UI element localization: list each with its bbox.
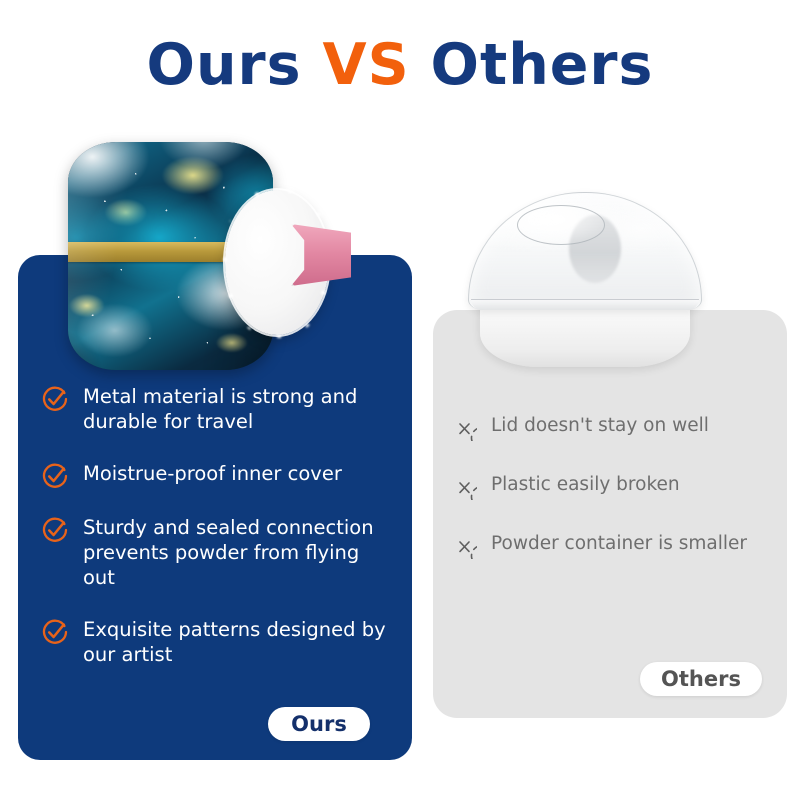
x-circle-icon <box>452 416 477 441</box>
others-product-image <box>462 192 707 367</box>
list-item: Sturdy and sealed connection prevents po… <box>42 515 392 591</box>
list-item: Exquisite patterns designed by our artis… <box>42 617 392 668</box>
list-item-label: Metal material is strong and durable for… <box>83 384 392 435</box>
list-item: Powder container is smaller <box>452 532 782 559</box>
ours-product-image <box>60 130 400 385</box>
check-circle-icon <box>42 386 68 412</box>
others-badge: Others <box>640 662 762 696</box>
list-item-label: Plastic easily broken <box>491 473 680 497</box>
powder-puff <box>225 190 350 335</box>
check-circle-icon <box>42 463 68 489</box>
list-item-label: Lid doesn't stay on well <box>491 414 709 438</box>
title-word-others: Others <box>430 36 653 96</box>
title-word-ours: Ours <box>147 36 302 96</box>
lid-knob-ring <box>517 205 605 245</box>
list-item-label: Moistrue-proof inner cover <box>83 461 342 486</box>
list-item-label: Sturdy and sealed connection prevents po… <box>83 515 392 591</box>
comparison-infographic: Ours VS Others <box>0 0 800 800</box>
page-title: Ours VS Others <box>0 36 800 96</box>
list-item: Lid doesn't stay on well <box>452 414 782 441</box>
check-circle-icon <box>42 619 68 645</box>
x-circle-icon <box>452 475 477 500</box>
clear-dome-lid <box>468 192 702 310</box>
check-circle-icon <box>42 517 68 543</box>
lid-rim <box>471 299 699 310</box>
x-circle-icon <box>452 534 477 559</box>
list-item-label: Powder container is smaller <box>491 532 747 556</box>
others-drawback-list: Lid doesn't stay on well Plastic easily … <box>452 414 782 591</box>
title-word-vs: VS <box>322 36 409 96</box>
ours-badge: Ours <box>268 707 370 741</box>
list-item-label: Exquisite patterns designed by our artis… <box>83 617 392 668</box>
ours-feature-list: Metal material is strong and durable for… <box>42 384 392 693</box>
list-item: Metal material is strong and durable for… <box>42 384 392 435</box>
list-item: Moistrue-proof inner cover <box>42 461 392 489</box>
list-item: Plastic easily broken <box>452 473 782 500</box>
